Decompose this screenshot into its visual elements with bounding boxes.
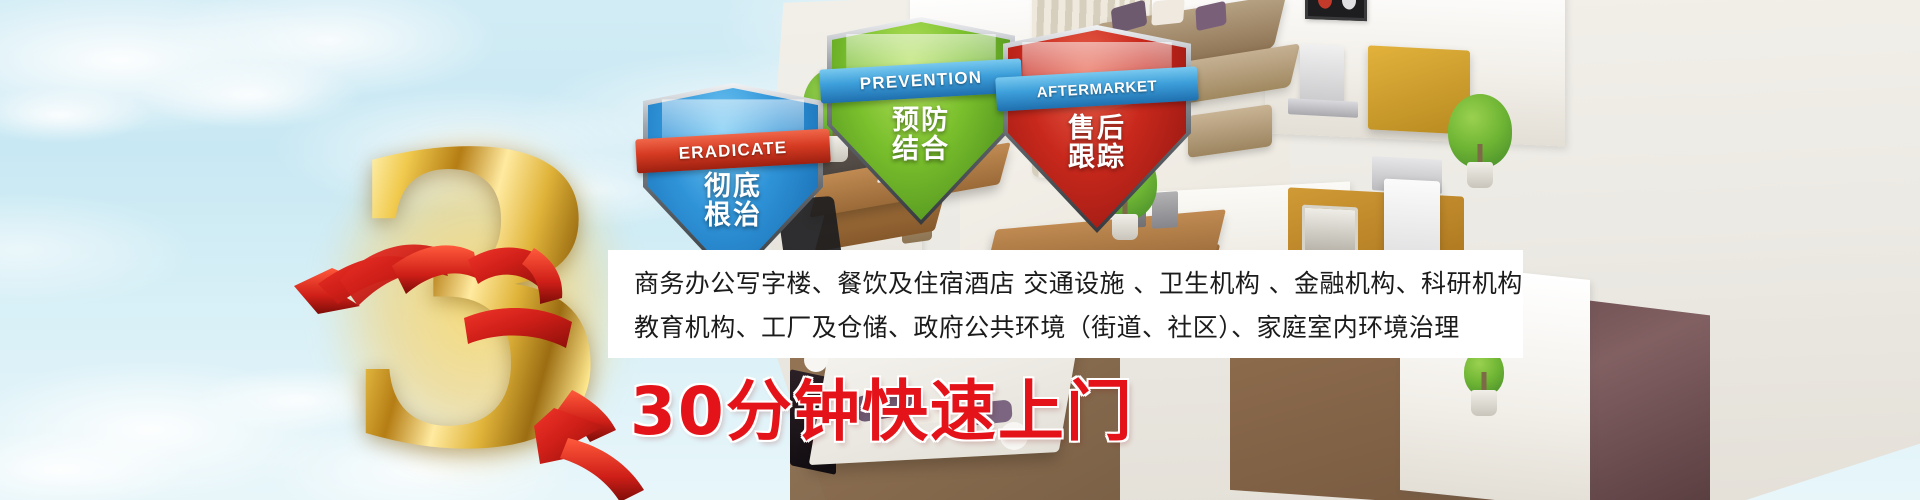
shield-chinese-line2: 结合 [832,135,1010,164]
shield-chinese-line2: 跟踪 [1008,143,1186,172]
shield-chinese-line2: 根治 [648,201,818,230]
shield-chinese-line1: 售后 [1008,114,1186,143]
gold-number-graphic: 3 [292,108,662,498]
shield-badge-aftermarket: AFTERMARKET 售后 跟踪 [1008,30,1186,228]
potted-plant [1450,80,1510,188]
gold-number-3: 3 [292,108,662,498]
shield-english-label: AFTERMARKET [1036,77,1158,101]
wall-art-panel [1305,0,1367,21]
shield-english-label: PREVENTION [859,68,982,95]
shield-chinese-line1: 预防 [832,106,1010,135]
service-scope-line-2: 教育机构、工厂及仓储、政府公共环境（街道、社区）、家庭室内环境治理 [634,306,1501,350]
shield-english-label: ERADICATE [678,138,788,164]
promo-headline: 30分钟快速上门 [630,358,1134,454]
shield-chinese-line1: 彻底 [648,172,818,201]
shield-chinese-label: 预防 结合 [832,106,1010,164]
shield-chinese-label: 售后 跟踪 [1008,114,1186,172]
shield-badge-prevention: PREVENTION 预防 结合 [832,22,1010,220]
shield-chinese-label: 彻底 根治 [648,172,818,230]
service-scope-panel: 商务办公写字楼、餐饮及住宿酒店 交通设施 、卫生机构 、金融机构、科研机构 教育… [608,250,1523,358]
service-scope-line-1: 商务办公写字楼、餐饮及住宿酒店 交通设施 、卫生机构 、金融机构、科研机构 [634,262,1501,306]
sofa-cushion [1151,0,1185,26]
promo-banner: 3 [0,0,1920,500]
